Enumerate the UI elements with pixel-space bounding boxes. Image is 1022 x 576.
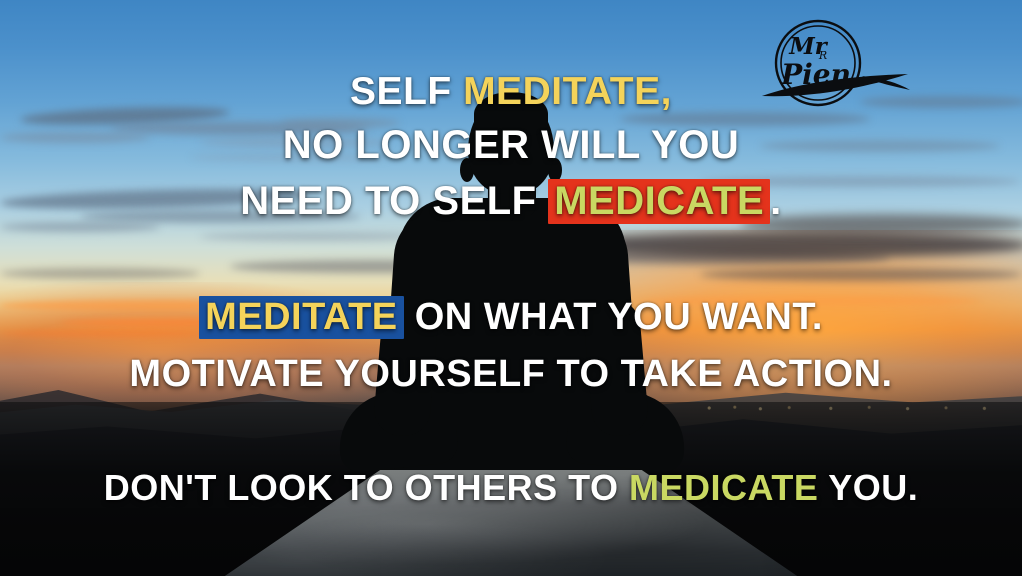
quote-line-6: DON'T LOOK TO OTHERS TO MEDICATE YOU. [0,470,1022,506]
cloud [700,268,1022,281]
quote-text-white: MOTIVATE YOURSELF TO TAKE ACTION. [129,353,892,395]
quote-line-4: MEDITATE ON WHAT YOU WANT. [0,296,1022,339]
cloud [0,268,200,279]
quote-text-white: YOU. [818,467,918,508]
quote-block-3: DON'T LOOK TO OTHERS TO MEDICATE YOU. [0,470,1022,506]
mr-pien-logo: Mr R Pien [750,14,920,112]
highlight-meditate-gold: MEDITATE, [463,72,672,111]
highlight-meditate-blue: MEDITATE [199,296,404,339]
quote-graphic: SELF MEDITATE, NO LONGER WILL YOU NEED T… [0,0,1022,576]
quote-text-white: SELF [350,70,463,113]
quote-text-white: ON WHAT YOU WANT. [404,296,823,338]
quote-text-white: DON'T LOOK TO OTHERS TO [104,467,629,508]
highlight-medicate-green: MEDICATE [629,470,818,506]
quote-line-2: NO LONGER WILL YOU [0,125,1022,165]
quote-text-white: NEED TO SELF [240,179,548,223]
quote-block-2: MEDITATE ON WHAT YOU WANT. MOTIVATE YOUR… [0,296,1022,409]
quote-line-3: NEED TO SELF MEDICATE. [0,179,1022,224]
quote-text-white: NO LONGER WILL YOU [283,123,739,167]
highlight-medicate-red: MEDICATE [548,179,770,224]
quote-text-white: . [770,179,782,223]
quote-line-5: MOTIVATE YOURSELF TO TAKE ACTION. [0,355,1022,393]
